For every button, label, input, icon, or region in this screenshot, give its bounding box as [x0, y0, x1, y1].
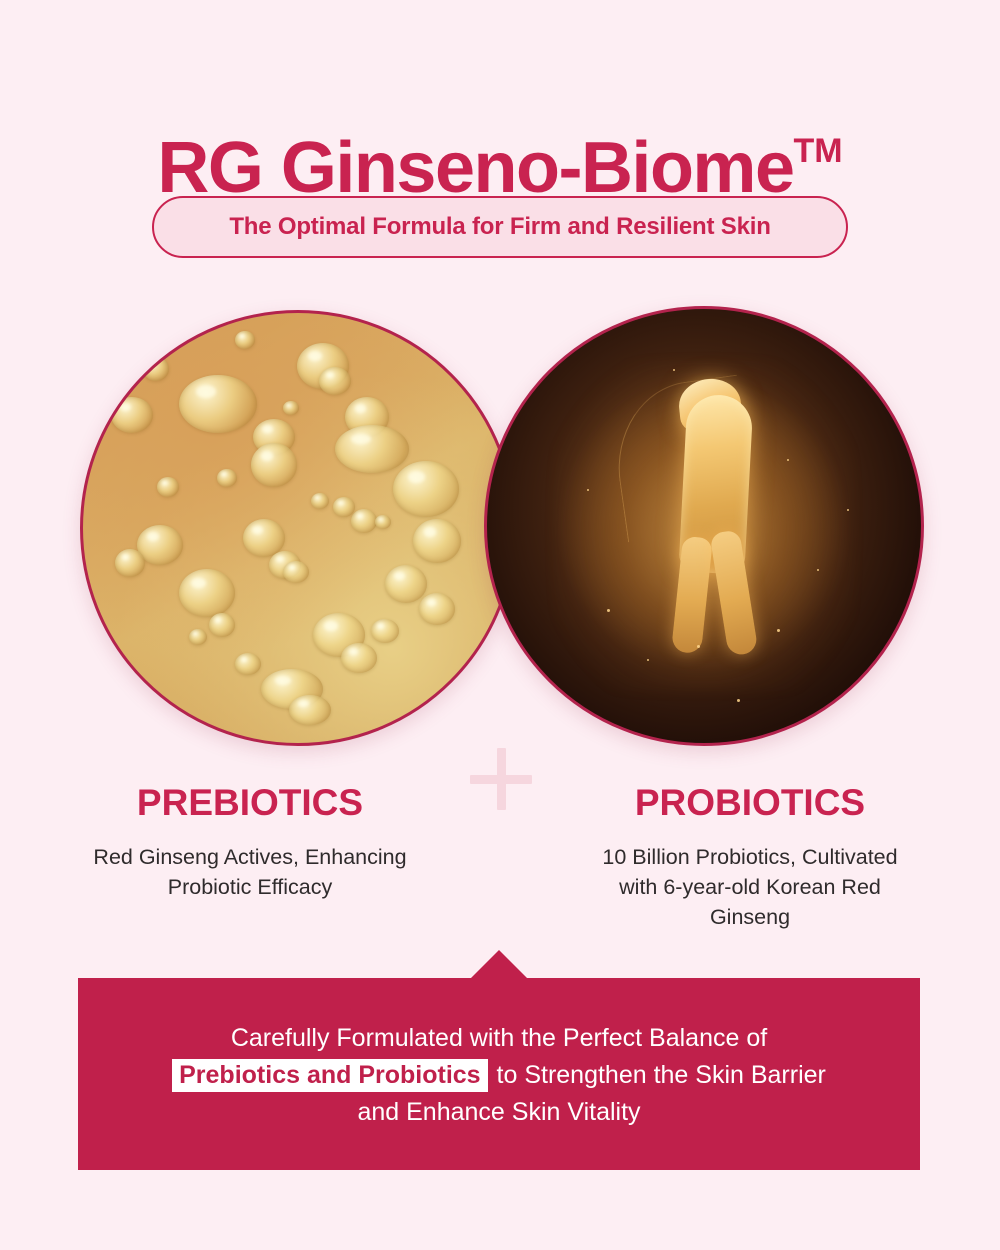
column-prebiotics: PREBIOTICS Red Ginseng Actives, Enhancin…	[0, 782, 500, 932]
plus-icon-vertical-bar	[497, 748, 506, 810]
summary-banner: Carefully Formulated with the Perfect Ba…	[78, 978, 920, 1170]
prebiotics-circle-image	[80, 310, 516, 746]
subtitle-pill: The Optimal Formula for Firm and Resilie…	[152, 196, 848, 258]
banner-text: Carefully Formulated with the Perfect Ba…	[78, 1020, 920, 1131]
column-probiotics-heading: PROBIOTICS	[500, 782, 1000, 824]
banner-highlight: Prebiotics and Probiotics	[172, 1059, 487, 1092]
banner-notch-triangle	[470, 950, 528, 979]
banner-line-2-rest: to Strengthen the Skin Barrier	[490, 1061, 826, 1089]
probiotics-circle-image	[484, 306, 924, 746]
banner-line-2: Prebiotics and Probiotics to Strengthen …	[78, 1057, 920, 1094]
plus-icon	[470, 748, 532, 810]
banner-line-1: Carefully Formulated with the Perfect Ba…	[78, 1020, 920, 1057]
column-probiotics-description: 10 Billion Probiotics, Cultivated with 6…	[585, 842, 915, 932]
subtitle-text: The Optimal Formula for Firm and Resilie…	[229, 213, 770, 241]
promo-page: RG Ginseno-BiomeTM The Optimal Formula f…	[0, 0, 1000, 1250]
column-prebiotics-heading: PREBIOTICS	[0, 782, 500, 824]
column-prebiotics-description: Red Ginseng Actives, Enhancing Probiotic…	[85, 842, 415, 902]
trademark-symbol: TM	[793, 132, 842, 170]
circle-image-group	[0, 306, 1000, 746]
banner-line-3: and Enhance Skin Vitality	[78, 1094, 920, 1131]
column-probiotics: PROBIOTICS 10 Billion Probiotics, Cultiv…	[500, 782, 1000, 932]
page-title: RG Ginseno-BiomeTM	[157, 112, 842, 207]
